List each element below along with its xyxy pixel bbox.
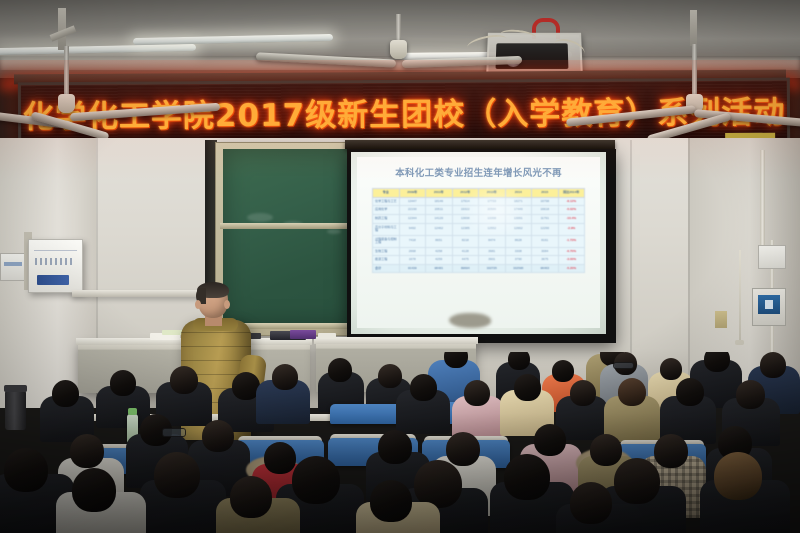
chalkboard-center-rail (220, 223, 362, 229)
table-cell: 16618 (532, 206, 559, 215)
student-head (110, 370, 136, 396)
table-cell: 7418 (399, 235, 426, 247)
table-cell-label: 能源工程 (373, 256, 400, 265)
table-cell: 4128 (452, 247, 479, 256)
table-cell: 3981 (479, 247, 506, 256)
table-cell-delta: -2.9% (558, 223, 585, 235)
table-cell: 12344 (399, 215, 426, 224)
table-cell: 2668 (399, 247, 426, 256)
table-cell: 4258 (426, 247, 453, 256)
presentation-slide: 本科化工类专业招生连年增长风光不再 专业 2009年 2011年 2012年 2… (357, 157, 600, 328)
table-cell-label: 合计 (373, 264, 400, 273)
student-head (508, 352, 530, 370)
table-cell-label: 过程装备与控制工程 (373, 235, 400, 247)
table-cell: 11791 (532, 215, 559, 224)
table-header-cell: 2011年 (426, 189, 453, 198)
table-total-row: 合计 91439 98481 89694 102725 102595 96463… (373, 264, 585, 273)
table-cell: 102725 (479, 264, 506, 273)
fan-hub (390, 40, 407, 59)
table-row: 能源工程 1678 4259 4475 3901 3790 3675 -3.00… (373, 256, 585, 265)
student-head (570, 380, 596, 406)
student-head (70, 434, 104, 468)
table-header-cell: 专业 (373, 189, 400, 198)
table-row: 高分子材料与工程 9492 12462 12385 12552 12662 12… (373, 223, 585, 235)
ceiling-mount-bracket (690, 10, 697, 46)
table-cell: 98481 (426, 264, 453, 273)
student-head (760, 352, 786, 378)
table-header-cell: 同比2014年 (558, 189, 585, 198)
wall-switch-unit[interactable] (752, 288, 786, 326)
table-cell: 8218 (452, 235, 479, 247)
projection-screen-surface: 本科化工类专业招生连年增长风光不再 专业 2009年 2011年 2012年 2… (351, 152, 606, 334)
table-cell: 13398 (479, 215, 506, 224)
projection-screen: 本科化工类专业招生连年增长风光不再 专业 2009年 2011年 2012年 2… (347, 149, 616, 343)
student-head (590, 434, 622, 466)
table-cell: 9492 (399, 223, 426, 235)
table-cell-delta: -6.70% (558, 247, 585, 256)
fan-drop-rod (64, 46, 69, 96)
student-head (202, 420, 234, 452)
thermos-cap (4, 385, 27, 392)
slide-data-table: 专业 2009年 2011年 2012年 2013年 2014 2015 同比2… (372, 188, 585, 273)
student-head (534, 424, 566, 456)
table-cell-label: 生物工程 (373, 247, 400, 256)
fan-drop-rod (396, 14, 401, 42)
student-head-foreground (614, 458, 660, 504)
student-head-foreground (4, 448, 48, 492)
table-cell: 22190 (399, 206, 426, 215)
fan-drop-rod (692, 44, 697, 96)
table-cell: 1678 (399, 256, 426, 265)
table-cell: 8161 (532, 235, 559, 247)
student-head-foreground (370, 480, 412, 522)
student-head (552, 360, 574, 382)
table-cell: 8651 (426, 235, 453, 247)
junction-box (758, 245, 786, 269)
table-row: 化学工程与工艺 13447 18146 17914 17733 18271 16… (373, 197, 585, 206)
table-cell: 12290 (532, 223, 559, 235)
student-glasses (162, 428, 186, 437)
audience-area (0, 352, 800, 533)
table-cell-delta: -5.02% (558, 206, 585, 215)
table-cell: 8474 (479, 235, 506, 247)
table-cell: 3675 (532, 256, 559, 265)
table-cell-delta: -5.20% (558, 264, 585, 273)
table-cell-label: 高分子材料与工程 (373, 223, 400, 235)
table-cell-delta: -3.00% (558, 256, 585, 265)
hanging-cord-tip (735, 340, 744, 345)
student-head-foreground (570, 482, 612, 524)
student-head (264, 442, 296, 474)
control-box-logo (37, 275, 69, 285)
table-cell: 3084 (532, 247, 559, 256)
table-cell: 3790 (505, 256, 532, 265)
chalk-smudge (247, 213, 273, 222)
table-cell: 96463 (532, 264, 559, 273)
purple-bag (290, 330, 316, 339)
table-cell: 14120 (426, 215, 453, 224)
chalkboard-surface (223, 149, 360, 326)
table-cell: 17449 (505, 206, 532, 215)
electrical-conduit (760, 150, 765, 250)
student-head (446, 432, 480, 466)
presenter-ear (224, 300, 230, 309)
table-cell: 20586 (479, 206, 506, 215)
control-box-indicators (35, 258, 72, 265)
table-cell-delta: -10.4% (558, 215, 585, 224)
table-cell: 18146 (426, 197, 453, 206)
table-cell: 20511 (426, 206, 453, 215)
fan-hub (58, 94, 75, 113)
table-row: 制药工程 12344 14120 13698 13398 13091 11791… (373, 215, 585, 224)
student-head (464, 380, 490, 406)
table-cell: 18271 (505, 197, 532, 206)
table-cell: 12552 (479, 223, 506, 235)
student-head (660, 358, 682, 380)
table-header-cell: 2015 (532, 189, 559, 198)
table-header-cell: 2009年 (399, 189, 426, 198)
table-row: 生物工程 2668 4258 4128 3981 3308 3084 -6.70… (373, 247, 585, 256)
table-cell: 3308 (505, 247, 532, 256)
student-glasses (613, 362, 634, 369)
wall-shelf (72, 290, 200, 297)
teacher-desk-right-top (314, 337, 478, 344)
table-cell: 4475 (452, 256, 479, 265)
table-cell: 12385 (452, 223, 479, 235)
table-cell: 102595 (505, 264, 532, 273)
table-cell: 89694 (452, 264, 479, 273)
table-cell: 16798 (532, 197, 559, 206)
student-head (378, 430, 412, 464)
projection-screen-roller (345, 140, 615, 149)
wall-control-box[interactable] (28, 239, 83, 293)
table-header-cell: 2013年 (479, 189, 506, 198)
table-cell: 17914 (452, 197, 479, 206)
student-head (272, 364, 298, 390)
table-cell: 19322 (452, 206, 479, 215)
table-cell-label: 化学工程与工艺 (373, 197, 400, 206)
student-head (328, 358, 352, 382)
student-head (736, 380, 765, 409)
table-cell: 13447 (399, 197, 426, 206)
water-bottle-cap (128, 408, 137, 415)
table-cell-delta: -1.73% (558, 235, 585, 247)
head-shadow-on-screen (449, 313, 491, 328)
student-head-foreground (72, 468, 116, 512)
student-head (170, 366, 198, 394)
chalkboard (215, 142, 367, 336)
student-head (654, 434, 688, 468)
student-head (378, 364, 402, 388)
table-cell: 17733 (479, 197, 506, 206)
table-cell-label: 制药工程 (373, 215, 400, 224)
slide-title: 本科化工类专业招生连年增长风光不再 (395, 165, 562, 179)
table-cell: 13091 (505, 215, 532, 224)
student-head (704, 352, 730, 372)
student-head (514, 374, 541, 401)
table-cell: 12662 (505, 223, 532, 235)
table-header-row: 专业 2009年 2011年 2012年 2013年 2014 2015 同比2… (373, 189, 585, 198)
student-head-foreground (504, 454, 550, 500)
student-head (52, 380, 79, 407)
student-head (410, 374, 437, 401)
student-head-foreground (414, 460, 462, 508)
student-head-foreground (154, 452, 200, 498)
table-cell: 12462 (426, 223, 453, 235)
table-cell-label: 应用化学 (373, 206, 400, 215)
table-row: 应用化学 22190 20511 19322 20586 17449 16618… (373, 206, 585, 215)
student-head (618, 378, 646, 406)
wall-plate (715, 311, 727, 328)
chalk-smudge (327, 229, 341, 234)
table-cell: 8628 (505, 235, 532, 247)
white-object (318, 333, 336, 339)
thermos-flask (5, 390, 26, 430)
table-cell: 3901 (479, 256, 506, 265)
lecture-hall-photo: 化学化工学院2017级新生团校（入学教育）系列活动 本科化 (0, 0, 800, 533)
table-cell-delta: -8.12% (558, 197, 585, 206)
table-header-cell: 2012年 (452, 189, 479, 198)
table-cell: 91439 (399, 264, 426, 273)
student-head-foreground (230, 476, 272, 518)
table-cell: 13698 (452, 215, 479, 224)
table-header-cell: 2014 (505, 189, 532, 198)
presenter-ear (195, 300, 201, 309)
hanging-cord (739, 250, 741, 342)
student-head-foreground (292, 456, 340, 504)
table-row: 过程装备与控制工程 7418 8651 8218 8474 8628 8161 … (373, 235, 585, 247)
student-head-foreground (714, 452, 762, 500)
table-cell: 4259 (426, 256, 453, 265)
student-head (676, 378, 704, 406)
